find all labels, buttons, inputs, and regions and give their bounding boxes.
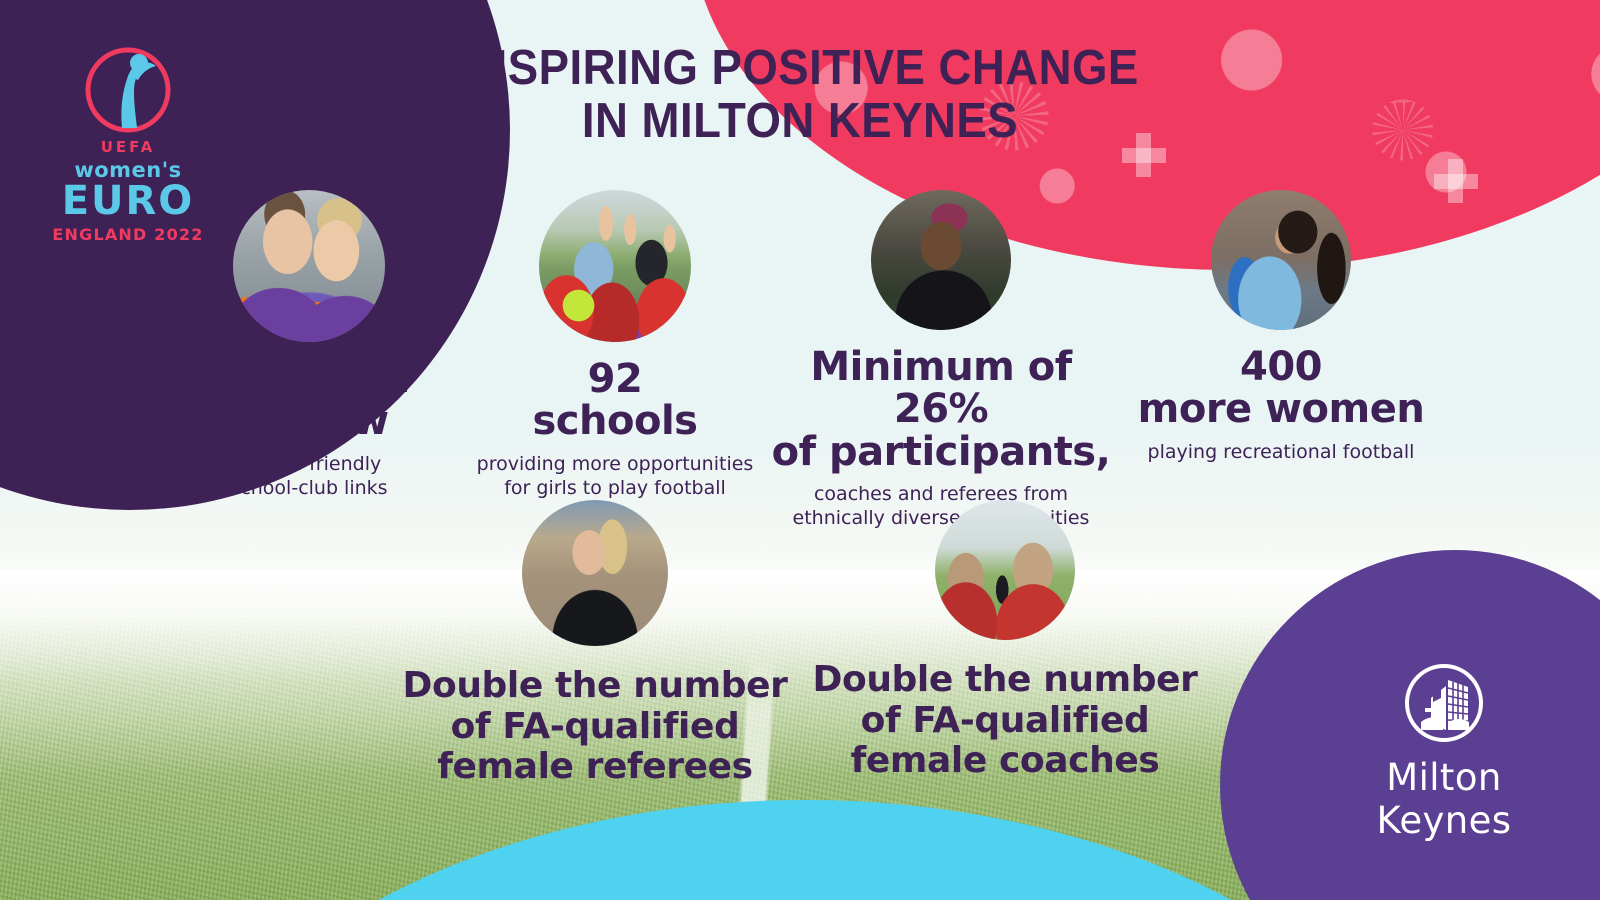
title-line-1: INSPIRING POSITIVE CHANGE [56, 42, 1544, 95]
page-title: INSPIRING POSITIVE CHANGE IN MILTON KEYN… [56, 42, 1544, 148]
stat-headline-line-1: Double the number [390, 666, 800, 707]
stat-headline-line-1: Establish [154, 358, 464, 400]
stat-headline: Double the number of FA-qualified female… [390, 666, 800, 788]
stat-photo [871, 190, 1011, 330]
stat-card-female-referees: Double the number of FA-qualified female… [390, 500, 800, 788]
stat-subtext-line-2: school-club links [154, 476, 464, 500]
stat-photo [1211, 190, 1351, 330]
infographic-poster: UEFA women's EURO ENGLAND 2022 INSPIRING… [0, 0, 1600, 900]
stat-card-school-club-links: Establish 22 new female-friendly school-… [154, 190, 464, 500]
stat-headline-line-1: Double the number [800, 660, 1210, 701]
stat-headline-line-2: 22 new [154, 400, 464, 442]
stat-photo [539, 190, 691, 342]
stat-subtext: providing more opportunities for girls t… [464, 452, 766, 501]
stat-subtext: playing recreational football [1116, 440, 1446, 464]
stats-row-top: Establish 22 new female-friendly school-… [0, 190, 1600, 531]
stat-headline-line-2: of FA-qualified [800, 701, 1210, 742]
title-line-2: IN MILTON KEYNES [56, 95, 1544, 148]
stat-headline-line-3: female referees [390, 747, 800, 788]
stat-headline-line-2: schools [464, 400, 766, 442]
milton-keynes-logo: Milton Keynes [1314, 664, 1574, 842]
stat-headline-line-2: of FA-qualified [390, 707, 800, 748]
stat-photo [233, 190, 385, 342]
stat-card-schools: 92 schools providing more opportunities … [464, 190, 766, 500]
stat-subtext: female-friendly school-club links [154, 452, 464, 501]
stat-headline-line-1: 92 [464, 358, 766, 400]
stat-photo [935, 500, 1075, 640]
milton-keynes-wordmark: Milton Keynes [1314, 756, 1574, 842]
stat-subtext-line-1: playing recreational football [1116, 440, 1446, 464]
stat-card-female-coaches: Double the number of FA-qualified female… [800, 500, 1210, 788]
stat-subtext-line-1: female-friendly [154, 452, 464, 476]
stat-card-recreational-football: 400 more women playing recreational foot… [1116, 190, 1446, 464]
stat-headline: 400 more women [1116, 346, 1446, 431]
stat-headline-line-1: 400 [1116, 346, 1446, 388]
stat-headline: Minimum of 26% of participants, [766, 346, 1116, 473]
stat-headline: Establish 22 new [154, 358, 464, 443]
stat-card-diverse-participants: Minimum of 26% of participants, coaches … [766, 190, 1116, 531]
stat-headline-line-2: more women [1116, 388, 1446, 430]
stat-subtext-line-2: for girls to play football [464, 476, 766, 500]
stat-headline-line-1: Minimum of 26% [766, 346, 1116, 431]
stat-headline: 92 schools [464, 358, 766, 443]
stat-headline-line-2: of participants, [766, 431, 1116, 473]
stat-headline: Double the number of FA-qualified female… [800, 660, 1210, 782]
milton-keynes-emblem-icon [1314, 664, 1574, 746]
stat-photo [522, 500, 668, 646]
stat-headline-line-3: female coaches [800, 741, 1210, 782]
stat-subtext-line-1: providing more opportunities [464, 452, 766, 476]
